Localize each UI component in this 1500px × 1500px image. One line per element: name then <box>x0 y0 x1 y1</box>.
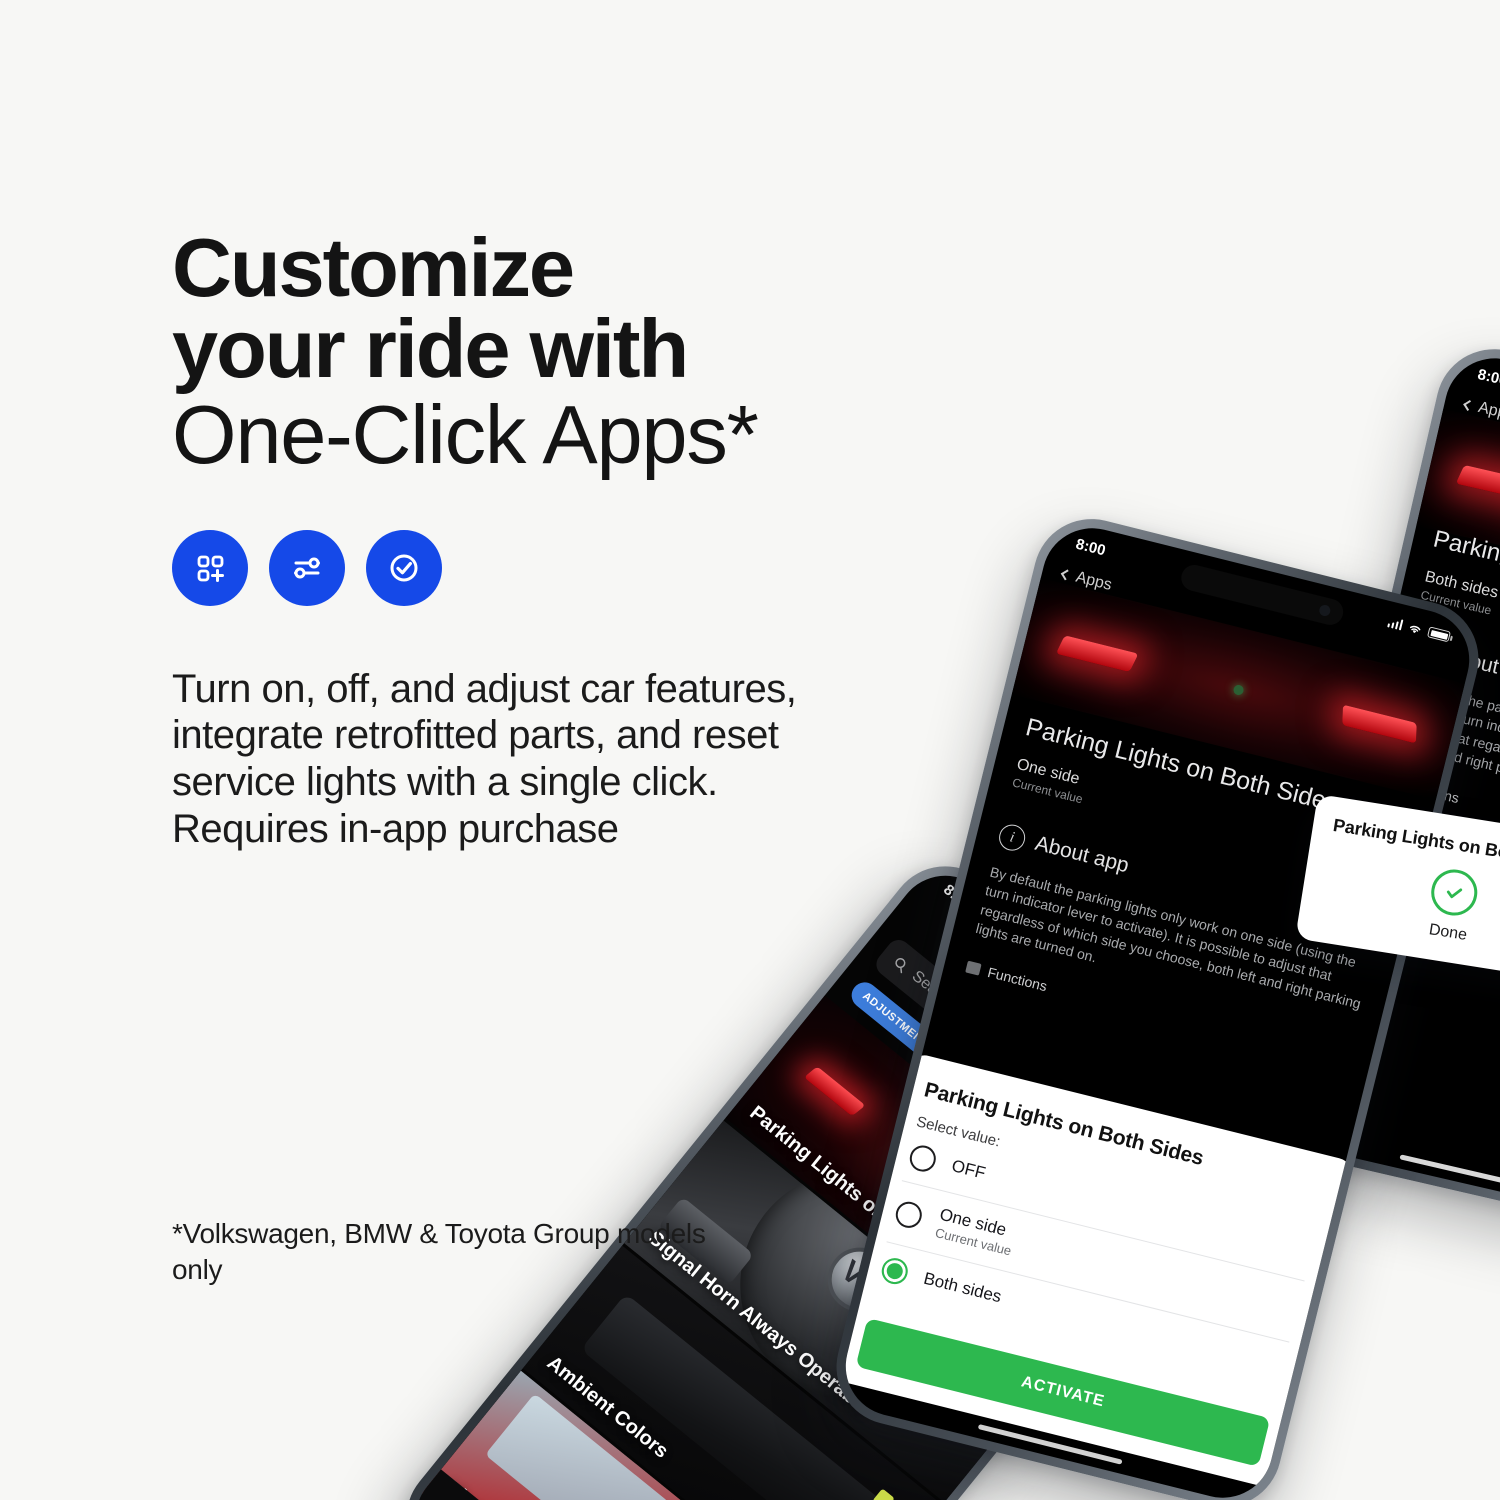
status-time: 8:00 <box>1074 536 1107 560</box>
info-icon: i <box>996 822 1028 854</box>
apps-add-icon <box>172 530 248 606</box>
body-copy: Turn on, off, and adjust car features, i… <box>172 666 812 853</box>
footnote: *Volkswagen, BMW & Toyota Group models o… <box>172 1216 732 1288</box>
chevron-left-icon <box>1061 569 1072 580</box>
radio-off[interactable] <box>907 1143 939 1175</box>
select-value-modal: Parking Lights on Both Sides Select valu… <box>835 1052 1356 1490</box>
marketing-copy-column: Customize your ride with One-Click Apps* <box>172 228 952 853</box>
option-label: Both sides <box>922 1269 1004 1308</box>
signal-icon <box>1387 616 1404 630</box>
functions-icon <box>965 961 981 976</box>
check-circle-icon <box>366 530 442 606</box>
headline-line-1: Customize <box>172 228 952 309</box>
radio-both-sides[interactable] <box>879 1255 911 1287</box>
check-circle-icon <box>1428 866 1481 919</box>
radio-one-side[interactable] <box>893 1199 925 1231</box>
sliders-icon <box>269 530 345 606</box>
status-icons <box>1387 616 1452 643</box>
done-card-title: Parking Lights on Both Si <box>1332 815 1500 876</box>
home-indicator <box>1399 1154 1500 1188</box>
option-label: OFF <box>950 1156 988 1184</box>
chevron-left-icon <box>1463 400 1474 411</box>
status-time: 8:00 <box>1476 366 1500 389</box>
battery-icon <box>1427 626 1451 642</box>
headline-line-2: your ride with <box>172 309 952 390</box>
color-swatch <box>872 1488 895 1500</box>
page-title: Customize your ride with One-Click Apps* <box>172 228 952 476</box>
search-icon <box>890 954 911 975</box>
feature-icon-row <box>172 530 952 606</box>
headline-line-3: One-Click Apps* <box>172 395 952 476</box>
wifi-icon <box>1406 621 1423 636</box>
